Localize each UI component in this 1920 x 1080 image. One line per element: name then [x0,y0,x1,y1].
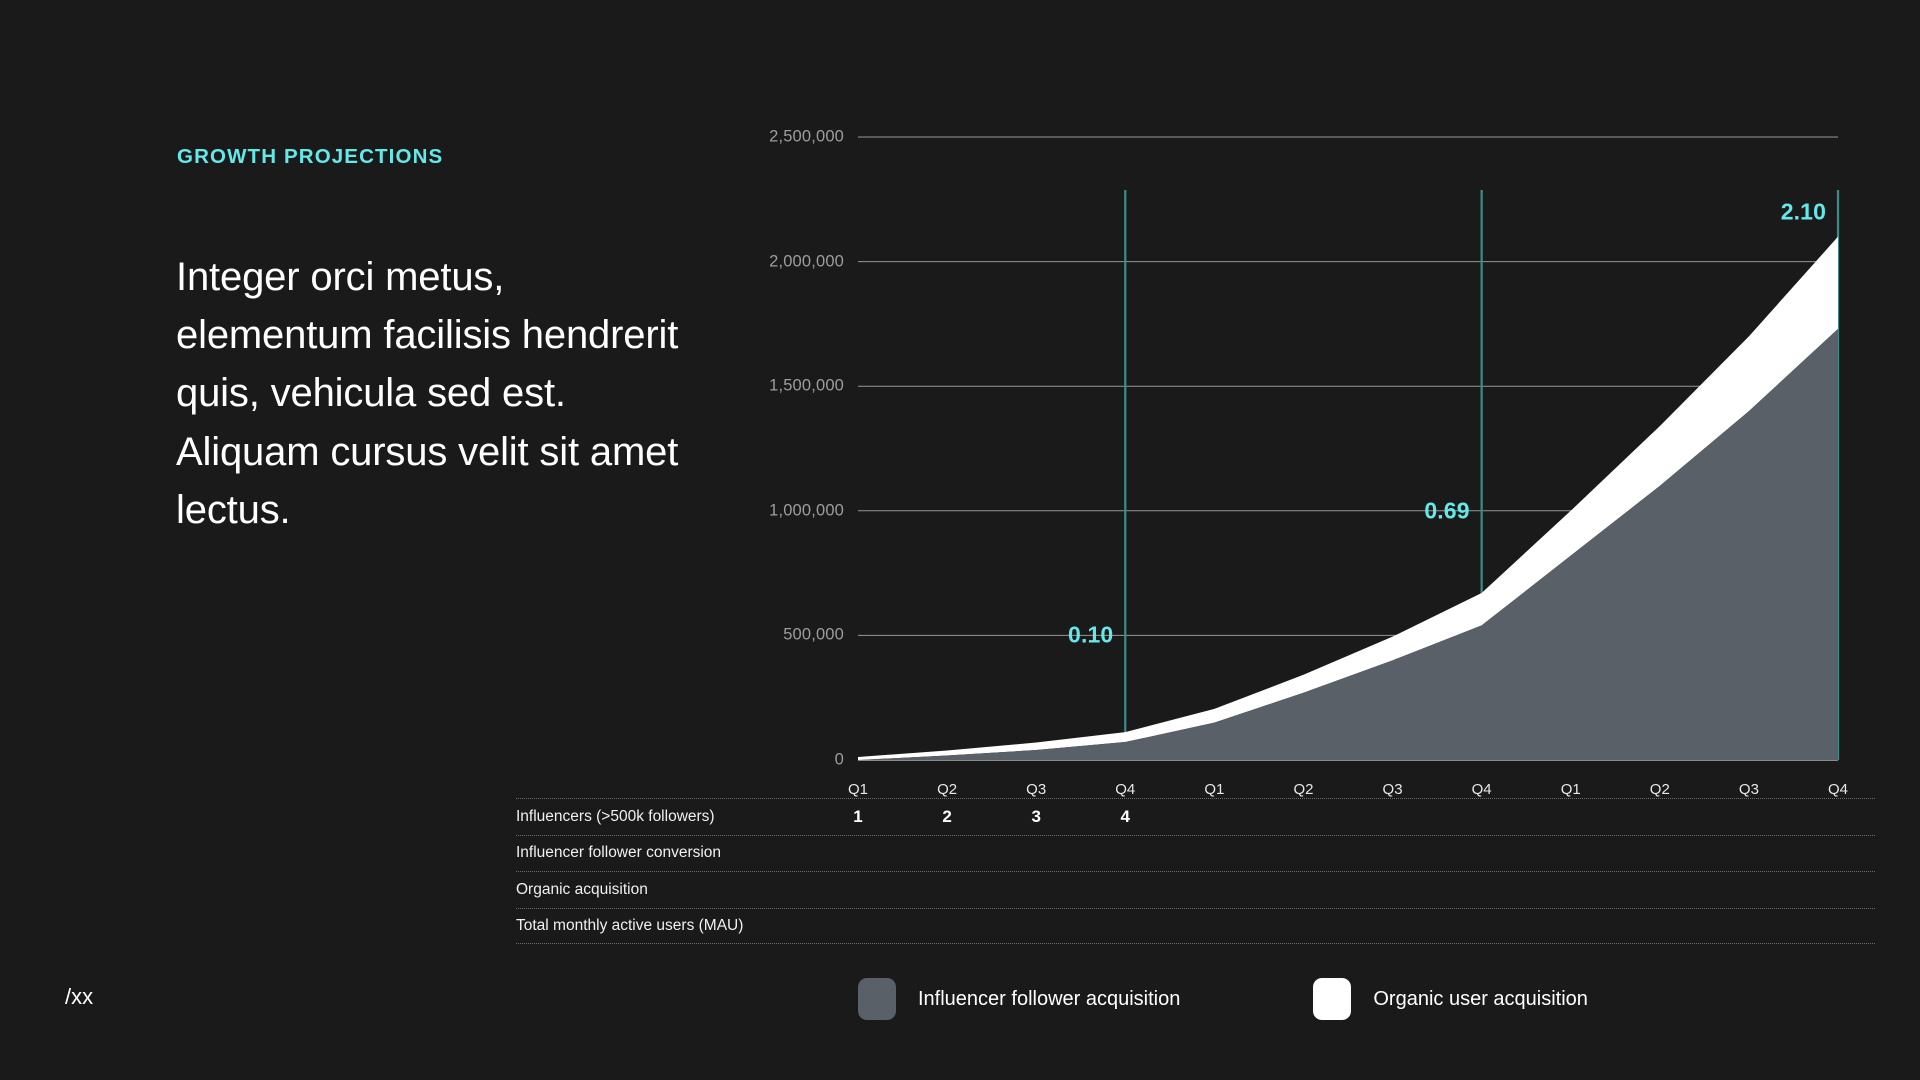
x-axis-tick-label: Q2 [1650,781,1670,798]
y-axis-tick-label: 1,500,000 [714,377,844,396]
table-cell: 1 [853,807,862,827]
table-cell: 2 [942,807,951,827]
x-axis-tick-label: Q2 [1293,781,1313,798]
chart-value-annotation: 0.69 [1424,497,1481,524]
x-axis-tick-label: Q4 [1472,781,1492,798]
chart-legend: Influencer follower acquisitionOrganic u… [858,978,1588,1020]
slide-root: GROWTH PROJECTIONS Integer orci metus, e… [0,0,1920,1080]
legend-item[interactable]: Organic user acquisition [1313,978,1588,1020]
y-axis-tick-label: 0 [714,751,844,770]
x-axis-tick-label: Q2 [937,781,957,798]
table-row: Influencer follower conversion [516,835,1875,872]
chart-value-annotation: 0.10 [1068,622,1125,649]
table-row-label: Organic acquisition [516,881,648,899]
x-axis-tick-label: Q3 [1383,781,1403,798]
table-row: Organic acquisition [516,871,1875,908]
table-row-label: Influencer follower conversion [516,844,721,862]
x-axis-tick-label: Q1 [848,781,868,798]
legend-label: Influencer follower acquisition [918,988,1180,1011]
data-table: Influencers (>500k followers)1234Influen… [516,798,1875,944]
legend-swatch [1313,978,1351,1020]
y-axis-tick-label: 1,000,000 [714,501,844,520]
legend-label: Organic user acquisition [1373,988,1588,1011]
x-axis-tick-label: Q3 [1739,781,1759,798]
x-axis-tick-label: Q1 [1561,781,1581,798]
y-axis-tick-label: 2,000,000 [714,252,844,271]
y-axis-tick-label: 2,500,000 [714,128,844,147]
table-row: Influencers (>500k followers)1234 [516,798,1875,835]
y-axis-tick-label: 500,000 [714,626,844,645]
table-cell: 3 [1031,807,1040,827]
legend-item[interactable]: Influencer follower acquisition [858,978,1180,1020]
x-axis-tick-label: Q4 [1115,781,1135,798]
x-axis-tick-label: Q4 [1828,781,1848,798]
table-row-label: Influencers (>500k followers) [516,808,715,826]
table-row: Total monthly active users (MAU) [516,908,1875,945]
table-cell: 4 [1121,807,1130,827]
legend-swatch [858,978,896,1020]
x-axis-tick-label: Q3 [1026,781,1046,798]
table-row-label: Total monthly active users (MAU) [516,917,743,935]
chart-value-annotation: 2.10 [1781,198,1838,225]
x-axis-tick-label: Q1 [1204,781,1224,798]
